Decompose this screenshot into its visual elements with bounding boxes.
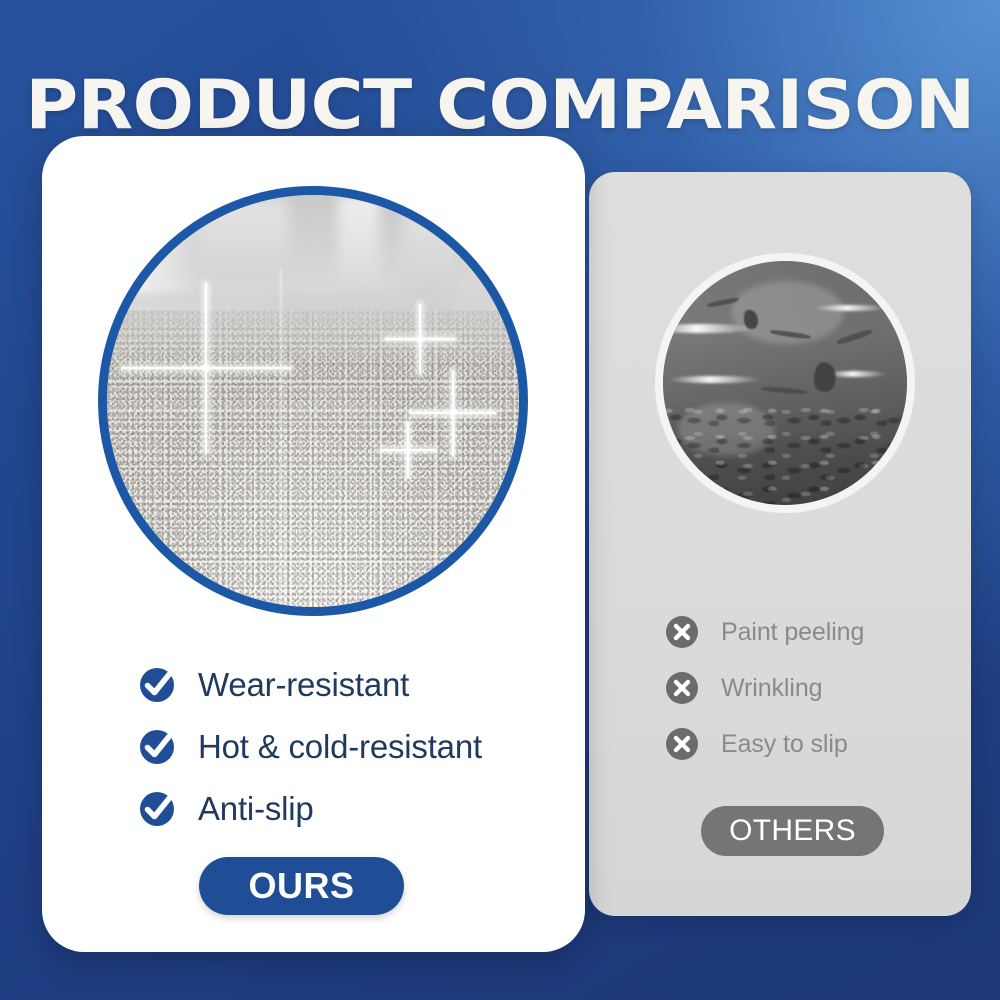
check-icon	[138, 666, 176, 704]
list-item: Wear-resistant	[138, 654, 568, 716]
others-badge: OTHERS	[701, 806, 884, 856]
list-item: Paint peeling	[665, 604, 965, 660]
page-title: PRODUCT COMPARISON	[0, 68, 1000, 144]
list-item: Wrinkling	[665, 660, 965, 716]
blurred-reflection	[198, 199, 289, 281]
x-icon	[665, 727, 699, 761]
x-icon	[665, 671, 699, 705]
ours-photo-texture	[107, 195, 519, 607]
list-item-label: Paint peeling	[721, 617, 864, 647]
floor-crack	[836, 329, 873, 346]
tile-grout-line	[107, 409, 519, 411]
list-item-label: Hot & cold-resistant	[198, 728, 482, 766]
ours-card: Wear-resistant Hot & cold-resistant Anti…	[42, 136, 585, 952]
x-icon	[665, 615, 699, 649]
floor-peeling-band	[663, 403, 907, 505]
floor-crack	[760, 386, 807, 395]
ours-badge: OURS	[199, 857, 404, 915]
floor-chip	[811, 361, 839, 395]
list-item-label: Easy to slip	[721, 729, 848, 759]
comparison-infographic: PRODUCT COMPARISON	[0, 0, 1000, 1000]
others-product-image	[655, 253, 915, 513]
floor-horizon-blend	[107, 294, 519, 360]
others-feature-list: Paint peeling Wrinkling Easy to slip	[665, 604, 965, 772]
list-item-label: Anti-slip	[198, 790, 314, 828]
others-photo-texture	[663, 261, 907, 505]
list-item: Hot & cold-resistant	[138, 716, 568, 778]
check-icon	[138, 728, 176, 766]
list-item: Anti-slip	[138, 778, 568, 840]
floor-glare	[668, 376, 761, 383]
list-item-label: Wear-resistant	[198, 666, 409, 704]
check-icon	[138, 790, 176, 828]
list-item: Easy to slip	[665, 716, 965, 772]
list-item-label: Wrinkling	[721, 673, 822, 703]
others-card: Paint peeling Wrinkling Easy to slip OTH…	[589, 172, 971, 916]
ours-feature-list: Wear-resistant Hot & cold-resistant Anti…	[138, 654, 568, 840]
ours-product-image	[98, 186, 528, 616]
tile-grout-line	[280, 269, 282, 607]
